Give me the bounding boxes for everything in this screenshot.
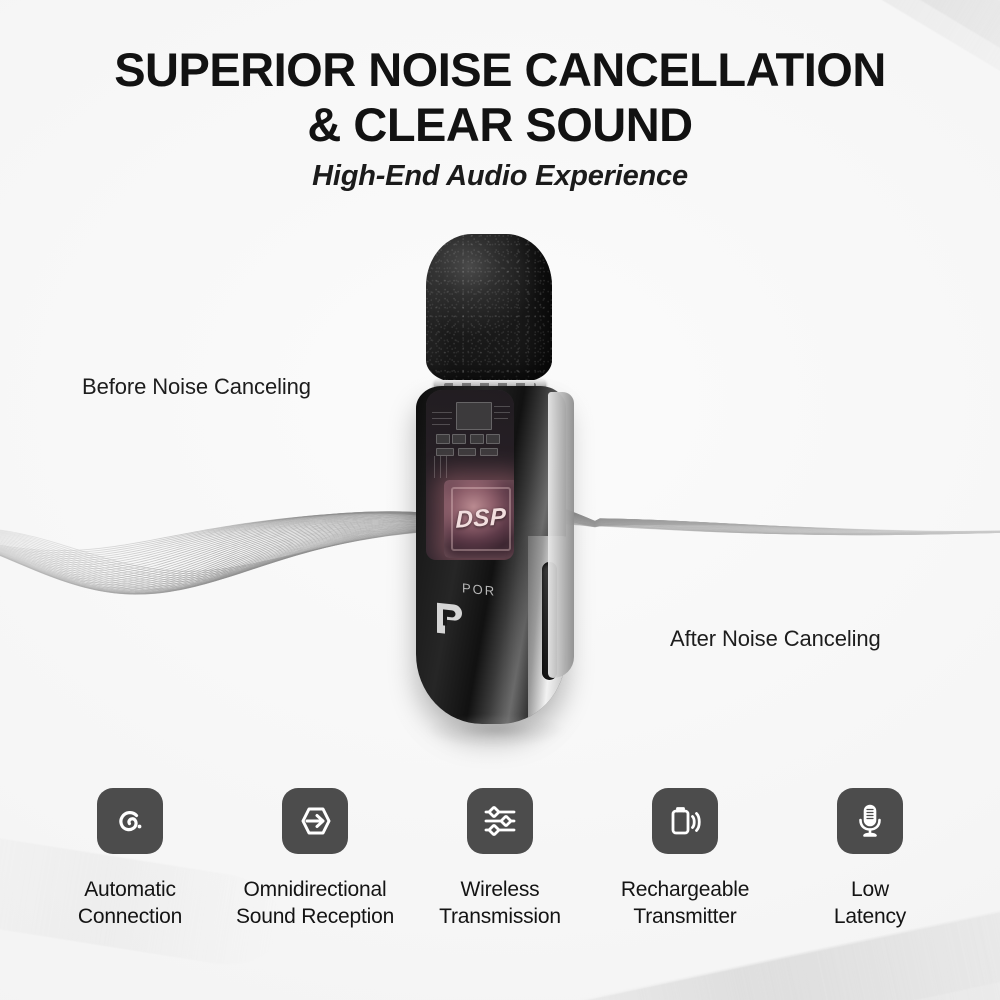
feature-item: Omnidirectional Sound Reception [225, 788, 405, 930]
page-subtitle: High-End Audio Experience [0, 160, 1000, 193]
feature-label: Rechargeable Transmitter [621, 876, 749, 930]
battery-wireless-icon [652, 788, 718, 854]
lavalier-microphone-product: DSP POR [398, 234, 613, 734]
before-noise-label: Before Noise Canceling [82, 374, 311, 400]
page-title: SUPERIOR NOISE CANCELLATION & CLEAR SOUN… [0, 42, 1000, 152]
arrow-into-hexagon-icon [282, 788, 348, 854]
dsp-chip-label: DSP [444, 502, 514, 535]
clip-back-plate [548, 392, 574, 678]
feature-item: Automatic Connection [40, 788, 220, 930]
foam-windscreen [426, 234, 552, 382]
dsp-chip: DSP [444, 480, 514, 558]
transparent-window: DSP [426, 390, 514, 560]
feature-label: Automatic Connection [78, 876, 182, 930]
after-noise-label: After Noise Canceling [670, 626, 881, 652]
feature-item: Rechargeable Transmitter [595, 788, 775, 930]
sliders-icon [467, 788, 533, 854]
product-feature-banner: SUPERIOR NOISE CANCELLATION & CLEAR SOUN… [0, 0, 1000, 1000]
microphone-icon [837, 788, 903, 854]
auto-connect-icon [97, 788, 163, 854]
feature-item: Wireless Transmission [410, 788, 590, 930]
feature-label: Low Latency [834, 876, 906, 930]
feature-list: Automatic Connection Omnidirectional Sou… [0, 788, 1000, 930]
product-reflection [426, 716, 566, 750]
brand-text: POR [462, 580, 496, 599]
portronics-p-logo-icon [434, 600, 464, 637]
microphone-body: DSP POR [416, 386, 566, 724]
feature-label: Wireless Transmission [439, 876, 561, 930]
feature-label: Omnidirectional Sound Reception [236, 876, 394, 930]
feature-item: Low Latency [780, 788, 960, 930]
